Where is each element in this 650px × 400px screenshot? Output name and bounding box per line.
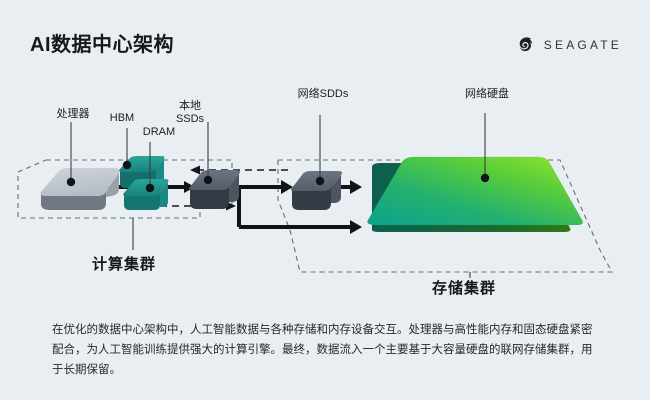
- brand-name: SEAGATE: [544, 38, 622, 52]
- label-processor: 处理器: [43, 108, 103, 121]
- description-paragraph: 在优化的数据中心架构中，人工智能数据与各种存储和内存设备交互。处理器与高性能内存…: [52, 320, 602, 380]
- label-compute-cluster: 计算集群: [92, 253, 156, 274]
- network-disk-slab[interactable]: [367, 157, 582, 232]
- label-local-ssds: 本地 SSDs: [168, 100, 212, 125]
- callout-dot-network-ssds: [316, 177, 324, 185]
- label-dram: DRAM: [136, 126, 182, 139]
- page-title: AI数据中心架构: [30, 28, 174, 57]
- callout-dot-network-disk: [481, 174, 489, 182]
- seagate-brand: SEAGATE: [514, 34, 622, 56]
- callout-dot-dram: [146, 184, 154, 192]
- processor-box[interactable]: [40, 168, 120, 210]
- seagate-spiral-icon: [514, 34, 536, 56]
- label-network-ssds: 网络SDDs: [285, 88, 361, 101]
- label-hbm: HBM: [102, 112, 142, 125]
- label-network-disk: 网络硬盘: [443, 88, 531, 101]
- callout-dot-hbm: [123, 161, 131, 169]
- callout-dot-processor: [67, 178, 75, 186]
- label-storage-cluster: 存储集群: [432, 277, 496, 298]
- network-ssds-box[interactable]: [291, 171, 342, 210]
- slide-canvas: AI数据中心架构 SEAGATE: [0, 0, 650, 400]
- callout-dot-local-ssds: [204, 176, 212, 184]
